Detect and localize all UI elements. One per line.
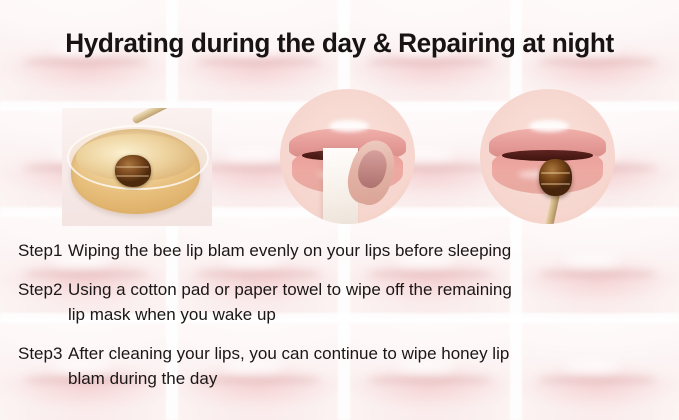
step-text-line: After cleaning your lips, you can contin… bbox=[68, 341, 509, 366]
step-text-line: lip mask when you wake up bbox=[68, 302, 512, 327]
fingernail bbox=[354, 148, 390, 192]
step-text: Using a cotton pad or paper towel to wip… bbox=[68, 277, 512, 327]
step-text: Wiping the bee lip blam evenly on your l… bbox=[68, 238, 511, 263]
lips-scene bbox=[480, 89, 615, 224]
step-text: After cleaning your lips, you can contin… bbox=[68, 341, 509, 391]
steps-list: Step1 Wiping the bee lip blam evenly on … bbox=[0, 238, 679, 405]
honey-dipper-head-icon bbox=[115, 155, 151, 187]
lips-honey-dipper-photo bbox=[480, 89, 615, 224]
step-text-line: Wiping the bee lip blam evenly on your l… bbox=[68, 238, 511, 263]
poster: Hydrating during the day & Repairing at … bbox=[0, 0, 679, 420]
step-label: Step1 bbox=[0, 238, 68, 263]
step-label: Step3 bbox=[0, 341, 68, 366]
photo-row bbox=[0, 84, 679, 229]
step-text-line: Using a cotton pad or paper towel to wip… bbox=[68, 277, 512, 302]
step-item: Step1 Wiping the bee lip blam evenly on … bbox=[0, 238, 679, 263]
step-label: Step2 bbox=[0, 277, 68, 302]
lips-cotton-pad-photo bbox=[280, 89, 415, 224]
step-item: Step2 Using a cotton pad or paper towel … bbox=[0, 277, 679, 327]
mouth-line bbox=[502, 150, 594, 161]
page-title: Hydrating during the day & Repairing at … bbox=[10, 28, 669, 59]
honey-bowl-photo bbox=[62, 108, 212, 226]
step-text-line: blam during the day bbox=[68, 366, 509, 391]
step-item: Step3 After cleaning your lips, you can … bbox=[0, 341, 679, 391]
honey-dipper-head-icon bbox=[539, 159, 571, 195]
lips-scene bbox=[280, 89, 415, 224]
honey-dipper-handle-icon bbox=[131, 108, 193, 125]
